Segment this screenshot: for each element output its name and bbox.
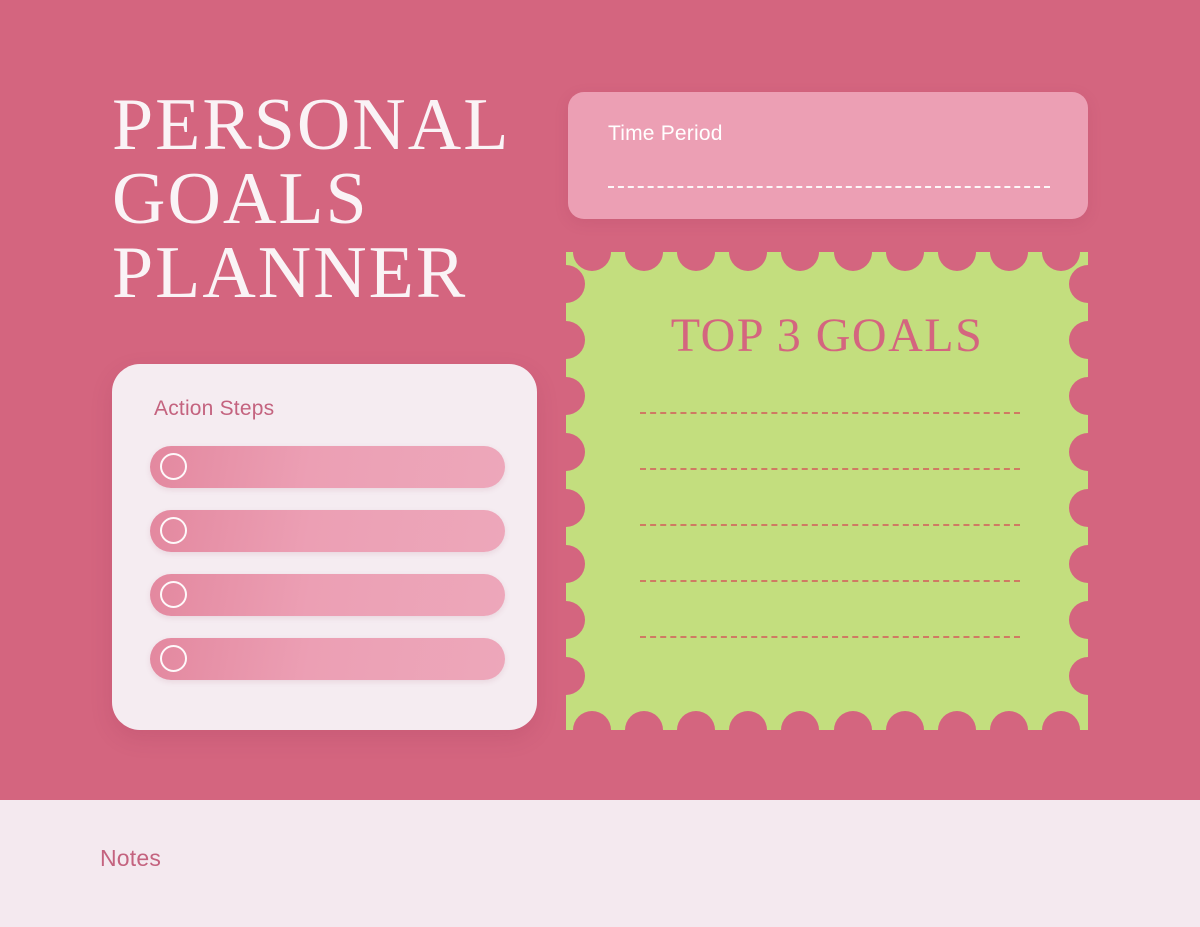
planner-page: PERSONAL GOALS PLANNER Time Period: [0, 0, 1200, 927]
action-step-row-4[interactable]: [150, 638, 505, 680]
goal-input-line-3[interactable]: [640, 524, 1020, 526]
action-steps-label: Action Steps: [154, 397, 274, 421]
goal-input-line-5[interactable]: [640, 636, 1020, 638]
action-steps-card: Action Steps: [112, 364, 537, 730]
checkbox-circle-icon[interactable]: [160, 453, 187, 480]
time-period-card[interactable]: Time Period: [568, 92, 1088, 219]
top-goals-title: TOP 3 GOALS: [566, 308, 1088, 363]
notes-label: Notes: [100, 845, 161, 872]
action-step-row-1[interactable]: [150, 446, 505, 488]
checkbox-circle-icon[interactable]: [160, 645, 187, 672]
top-goals-stamp-panel: TOP 3 GOALS: [566, 252, 1088, 730]
action-step-row-3[interactable]: [150, 574, 505, 616]
goal-input-line-4[interactable]: [640, 580, 1020, 582]
goal-input-line-1[interactable]: [640, 412, 1020, 414]
page-title-line-3: PLANNER: [112, 236, 562, 310]
page-title-line-1: PERSONAL: [112, 88, 562, 162]
time-period-input-line[interactable]: [608, 186, 1050, 188]
time-period-label: Time Period: [608, 122, 723, 146]
checkbox-circle-icon[interactable]: [160, 581, 187, 608]
checkbox-circle-icon[interactable]: [160, 517, 187, 544]
top-goals-content: TOP 3 GOALS: [566, 252, 1088, 730]
page-title: PERSONAL GOALS PLANNER: [112, 88, 562, 310]
goal-input-line-2[interactable]: [640, 468, 1020, 470]
page-title-line-2: GOALS: [112, 162, 562, 236]
action-step-row-2[interactable]: [150, 510, 505, 552]
notes-section[interactable]: [0, 800, 1200, 927]
